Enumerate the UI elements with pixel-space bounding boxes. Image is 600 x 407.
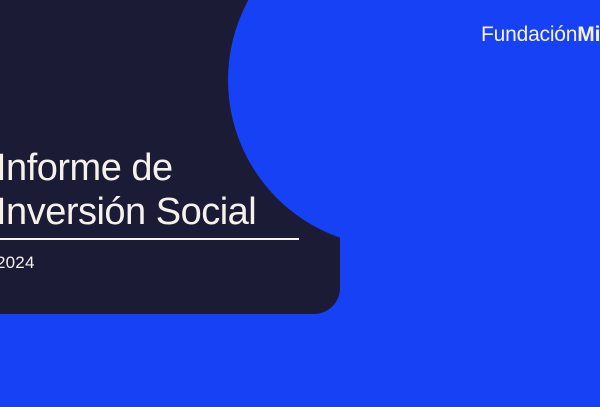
page-title-line-2: Inversión Social [0, 190, 299, 240]
brand-logo-light-text: Fundación [481, 23, 577, 46]
page-title-line-1: Informe de [0, 146, 306, 190]
cover-year: 2024 [0, 253, 306, 273]
cover-title-block: Informe de Inversión Social 2024 [0, 146, 306, 273]
brand-logo-bold-text: Mi [577, 23, 600, 46]
report-cover-page: FundaciónMi Informe de Inversión Social … [0, 0, 600, 407]
brand-logo: FundaciónMi [481, 23, 600, 47]
